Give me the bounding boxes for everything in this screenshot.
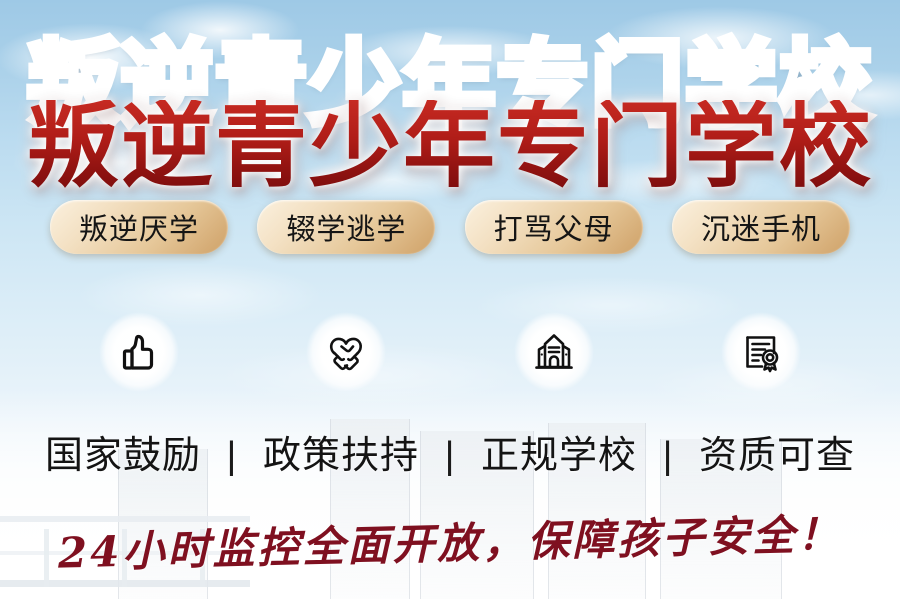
handshake-heart-icon <box>322 328 370 376</box>
badge-rebellious-school-aversion[interactable]: 叛逆厌学 <box>50 200 228 254</box>
badge-label: 叛逆厌学 <box>79 206 199 248</box>
school-building-icon <box>530 328 578 376</box>
icon-circle <box>306 312 386 392</box>
icon-row <box>50 312 850 392</box>
icon-circle <box>99 312 179 392</box>
icon-circle <box>514 312 594 392</box>
badge-abusing-parents[interactable]: 打骂父母 <box>465 200 643 254</box>
thumbs-up-icon <box>115 328 163 376</box>
certificate-seal-icon <box>737 328 785 376</box>
feature-national-encouragement: 国家鼓励 <box>45 424 201 479</box>
feature-separator: | <box>663 435 674 477</box>
poster-banner: 叛逆青少年专门学校 叛逆青少年专门学校 叛逆厌学 辍学逃学 打骂父母 沉迷手机 <box>0 0 900 599</box>
icon-cell-national-encouragement <box>50 312 228 392</box>
badge-dropout-truancy[interactable]: 辍学逃学 <box>257 200 435 254</box>
badge-phone-addiction[interactable]: 沉迷手机 <box>672 200 850 254</box>
icon-cell-policy-support <box>257 312 435 392</box>
icon-circle <box>721 312 801 392</box>
icon-cell-verifiable-credentials <box>672 312 850 392</box>
feature-accredited-school: 正规学校 <box>481 424 637 479</box>
feature-policy-support: 政策扶持 <box>263 424 419 479</box>
badge-label: 沉迷手机 <box>701 206 821 248</box>
icon-cell-accredited-school <box>465 312 643 392</box>
page-title: 叛逆青少年专门学校 <box>0 100 900 192</box>
feature-line: 国家鼓励 | 政策扶持 | 正规学校 | 资质可查 <box>0 424 900 479</box>
badge-label: 打骂父母 <box>494 206 614 248</box>
feature-separator: | <box>445 435 456 477</box>
feature-verifiable-credentials: 资质可查 <box>699 424 855 479</box>
feature-separator: | <box>227 435 238 477</box>
badge-row: 叛逆厌学 辍学逃学 打骂父母 沉迷手机 <box>50 200 850 254</box>
badge-label: 辍学逃学 <box>286 206 406 248</box>
